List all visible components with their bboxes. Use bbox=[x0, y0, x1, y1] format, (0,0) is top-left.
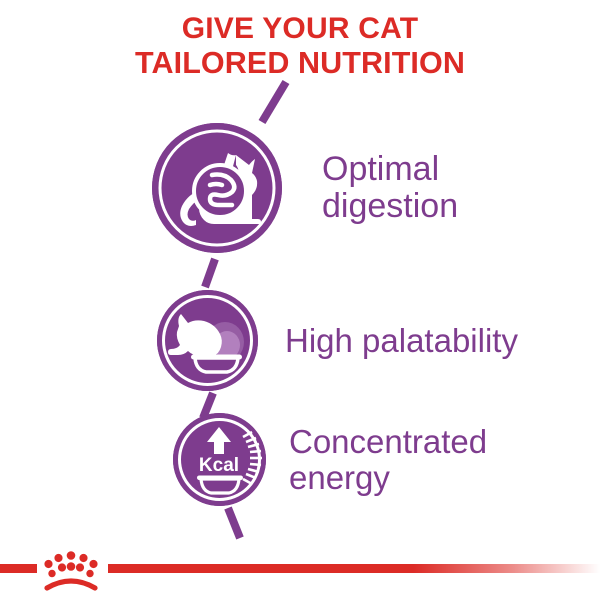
cat-eating-bowl-icon bbox=[157, 290, 258, 391]
benefit-item-2[interactable]: High palatability bbox=[157, 290, 518, 391]
royal-canin-crown-icon bbox=[40, 548, 102, 592]
benefit-item-3[interactable]: Kcal Concentrated energy bbox=[173, 413, 487, 506]
footer bbox=[0, 542, 600, 600]
benefit-label-2: High palatability bbox=[285, 323, 518, 359]
kcal-energy-icon: Kcal bbox=[173, 413, 266, 506]
footer-rule-right bbox=[108, 564, 600, 573]
benefit-label-3: Concentrated energy bbox=[289, 424, 487, 495]
promo-infographic: GIVE YOUR CAT TAILORED NUTRITION bbox=[0, 0, 600, 600]
benefit-badge-2 bbox=[157, 290, 258, 391]
benefit-badge-3: Kcal bbox=[173, 413, 266, 506]
cat-digestion-icon bbox=[152, 123, 282, 253]
svg-text:Kcal: Kcal bbox=[199, 455, 239, 476]
benefits-diagram: Optimal digestion High palatability bbox=[0, 0, 600, 545]
footer-rule-left bbox=[0, 564, 37, 573]
benefit-item-1[interactable]: Optimal digestion bbox=[152, 123, 458, 253]
benefit-badge-1 bbox=[152, 123, 282, 253]
benefit-label-1: Optimal digestion bbox=[322, 151, 458, 224]
